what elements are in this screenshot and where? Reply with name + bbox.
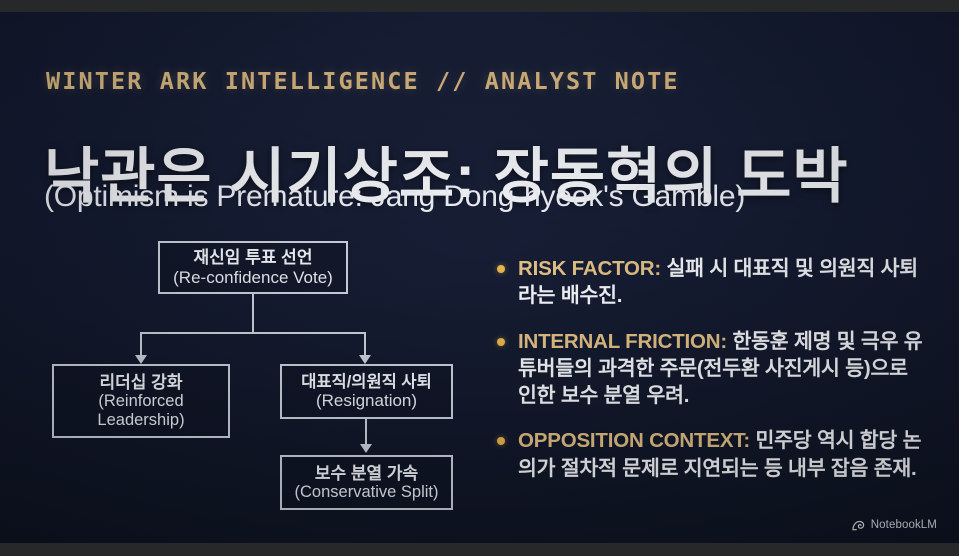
analysis-bullet-list: RISK FACTOR: 실패 시 대표직 및 의원직 사퇴라는 배수진. IN… — [492, 255, 928, 482]
flow-node-root-label-en: (Re-confidence Vote) — [173, 268, 333, 287]
flow-edge-drop-left — [140, 332, 142, 356]
presentation-slide: WINTER ARK INTELLIGENCE // ANALYST NOTE … — [0, 12, 959, 543]
flow-node-right-label-kr: 대표직/의원직 사퇴 — [301, 373, 432, 392]
flow-node-resignation: 대표직/의원직 사퇴 (Resignation) — [280, 364, 453, 419]
flow-node-bottom-label-kr: 보수 분열 가속 — [315, 464, 418, 483]
flow-arrowhead-left — [135, 355, 147, 364]
flow-node-conservative-split: 보수 분열 가속 (Conservative Split) — [280, 455, 453, 510]
notebooklm-logo-icon — [852, 519, 866, 531]
letterbox-bottom — [0, 543, 959, 556]
flow-node-left-label-kr: 리더십 강화 — [100, 373, 183, 392]
list-item: RISK FACTOR: 실패 시 대표직 및 의원직 사퇴라는 배수진. — [492, 255, 928, 310]
flow-node-right-label-en: (Resignation) — [316, 391, 417, 410]
bullet-dot-icon — [497, 437, 505, 445]
bullet-lead-label: INTERNAL FRICTION: — [518, 330, 727, 353]
flow-arrowhead-right — [359, 355, 371, 364]
flowchart: 재신임 투표 선언 (Re-confidence Vote) 리더십 강화 (R… — [0, 12, 480, 543]
bullet-dot-icon — [497, 265, 505, 273]
bullet-dot-icon — [497, 338, 505, 346]
flow-node-left-label-en: (Reinforced Leadership) — [60, 392, 222, 429]
flow-node-reinforced-leadership: 리더십 강화 (Reinforced Leadership) — [52, 364, 230, 438]
flow-arrowhead-bottom — [360, 444, 372, 453]
screenshot-frame: WINTER ARK INTELLIGENCE // ANALYST NOTE … — [0, 0, 959, 556]
bullet-lead-label: RISK FACTOR: — [518, 257, 661, 280]
list-item: OPPOSITION CONTEXT: 민주당 역시 합당 논의가 절차적 문제… — [492, 427, 928, 482]
letterbox-top — [0, 0, 959, 12]
bullet-lead-label: OPPOSITION CONTEXT: — [518, 429, 750, 452]
notebooklm-watermark: NotebookLM — [852, 519, 937, 531]
list-item: INTERNAL FRICTION: 한동훈 제명 및 극우 유튜버들의 과격한… — [492, 328, 928, 410]
flow-node-root-label-kr: 재신임 투표 선언 — [194, 248, 313, 267]
flow-edge-horizontal-bus — [140, 332, 366, 334]
flow-edge-drop-right — [364, 332, 366, 356]
flow-node-bottom-label-en: (Conservative Split) — [295, 483, 439, 502]
flow-node-root: 재신임 투표 선언 (Re-confidence Vote) — [158, 241, 348, 294]
flow-edge-root-stem — [252, 294, 254, 334]
flow-edge-drop-bottom — [365, 419, 367, 445]
notebooklm-label: NotebookLM — [871, 519, 937, 531]
